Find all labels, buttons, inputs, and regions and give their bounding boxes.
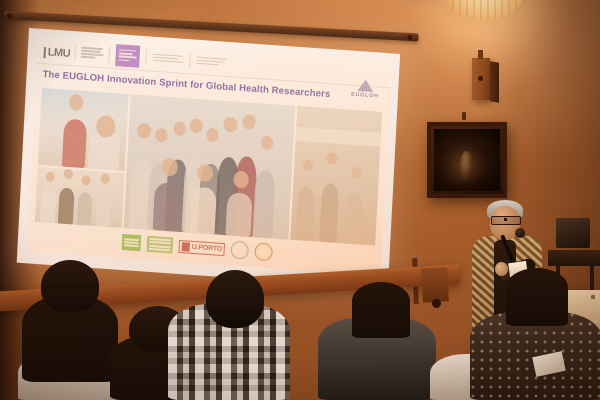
picture-nail (462, 112, 466, 120)
audience-head (206, 270, 264, 328)
partner-logo-slot-4 (189, 52, 233, 70)
eugloh-wordmark: EUGLOH (348, 91, 382, 99)
wall-speaker-driver-icon (478, 76, 483, 81)
painting-figure (460, 151, 473, 181)
av-monitor (556, 218, 590, 248)
presentation-room-photo: LMU The EUGLOH Innovation Sprint for Glo… (0, 0, 600, 400)
wall-speaker-side (490, 61, 499, 103)
slide: LMU The EUGLOH Innovation Sprint for Glo… (26, 36, 391, 276)
purple-partner-logo (115, 44, 140, 68)
audience-member-left (22, 294, 118, 382)
photo-group-portrait (123, 94, 295, 239)
projection-screen: LMU The EUGLOH Innovation Sprint for Glo… (17, 28, 400, 289)
audience-head (41, 260, 99, 312)
audience-head (506, 268, 568, 326)
photo-presenter-flipchart (38, 88, 128, 171)
wall-speaker-bracket (478, 50, 483, 59)
microphone-icon (515, 228, 525, 238)
lmu-wordmark-lines (76, 44, 111, 62)
ceiling-light (445, 0, 523, 20)
photo-participants-standing (35, 167, 124, 227)
lmu-bar (43, 47, 46, 58)
slide-photo-collage (35, 88, 382, 246)
partner-logo-green-1 (122, 234, 142, 251)
partner-seal-silver (231, 241, 250, 260)
u-porto-logo: U.PORTO (178, 239, 225, 255)
eugloh-mark-icon (357, 79, 374, 92)
audience (0, 268, 600, 400)
framed-painting (427, 122, 507, 198)
eugloh-logo: EUGLOH (348, 78, 383, 104)
u-porto-block-icon (182, 242, 190, 252)
glasses-icon (491, 216, 521, 225)
lmu-logo: LMU (43, 42, 76, 60)
lmu-logo-label: LMU (47, 46, 70, 60)
rail-cap-right (407, 34, 412, 39)
partner-logo-slot-3 (146, 49, 191, 67)
rail-cap-left (7, 13, 12, 18)
painting-canvas (434, 129, 500, 191)
photo-workshop-room (290, 106, 382, 246)
partner-logo-green-2 (146, 236, 173, 254)
partner-seal-gold (255, 242, 274, 261)
u-porto-label: U.PORTO (192, 243, 223, 252)
audience-head (352, 282, 410, 338)
